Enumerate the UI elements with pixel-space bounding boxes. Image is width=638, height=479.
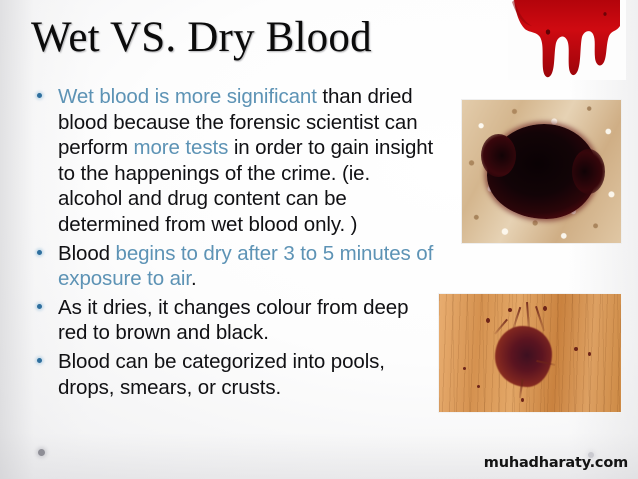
page-title: Wet VS. Dry Blood: [31, 12, 372, 64]
bullet-segment-normal: Blood: [58, 242, 116, 265]
dried-blood-pool-on-carpet-image: [461, 99, 622, 244]
satellite-droplet: [521, 398, 524, 402]
bullet-dot-icon: [37, 93, 42, 98]
wet-blood-drip-image: [508, 0, 626, 80]
blood-pool-shape: [487, 124, 597, 218]
list-item: Blood can be categorized into pools, dro…: [30, 349, 436, 400]
satellite-droplet: [543, 306, 547, 311]
bullet-segment-normal: .: [191, 267, 197, 290]
bullet-list: Wet blood is more significant than dried…: [30, 84, 436, 403]
bullet-dot-icon: [37, 250, 42, 255]
footer-watermark: muhadharaty.com: [484, 455, 628, 471]
blood-spatter-on-wood-image: [438, 293, 622, 413]
list-item: Blood begins to dry after 3 to 5 minutes…: [30, 241, 436, 292]
bullet-segment-highlight: Wet blood is more significant: [58, 85, 317, 108]
spatter-spine: [526, 302, 530, 330]
decorative-dot-icon: [38, 449, 45, 456]
bullet-dot-icon: [37, 358, 42, 363]
bullet-segment-highlight: more tests: [134, 136, 229, 159]
satellite-droplet: [588, 352, 591, 356]
bullet-dot-icon: [37, 304, 42, 309]
satellite-droplet: [477, 385, 480, 388]
list-item: As it dries, it changes colour from deep…: [30, 295, 436, 346]
blood-spatter-shape: [495, 326, 551, 387]
bullet-segment-normal: Blood can be categorized into pools, dro…: [58, 350, 385, 399]
satellite-droplet: [463, 367, 466, 370]
slide: Wet VS. Dry Blood Wet blood is more sign…: [0, 0, 638, 479]
list-item: Wet blood is more significant than dried…: [30, 84, 436, 238]
blood-drip-graphic: [508, 0, 626, 80]
bullet-segment-normal: As it dries, it changes colour from deep…: [58, 296, 408, 345]
satellite-droplet: [508, 308, 512, 312]
satellite-droplet: [574, 347, 578, 351]
satellite-droplet: [486, 318, 490, 323]
